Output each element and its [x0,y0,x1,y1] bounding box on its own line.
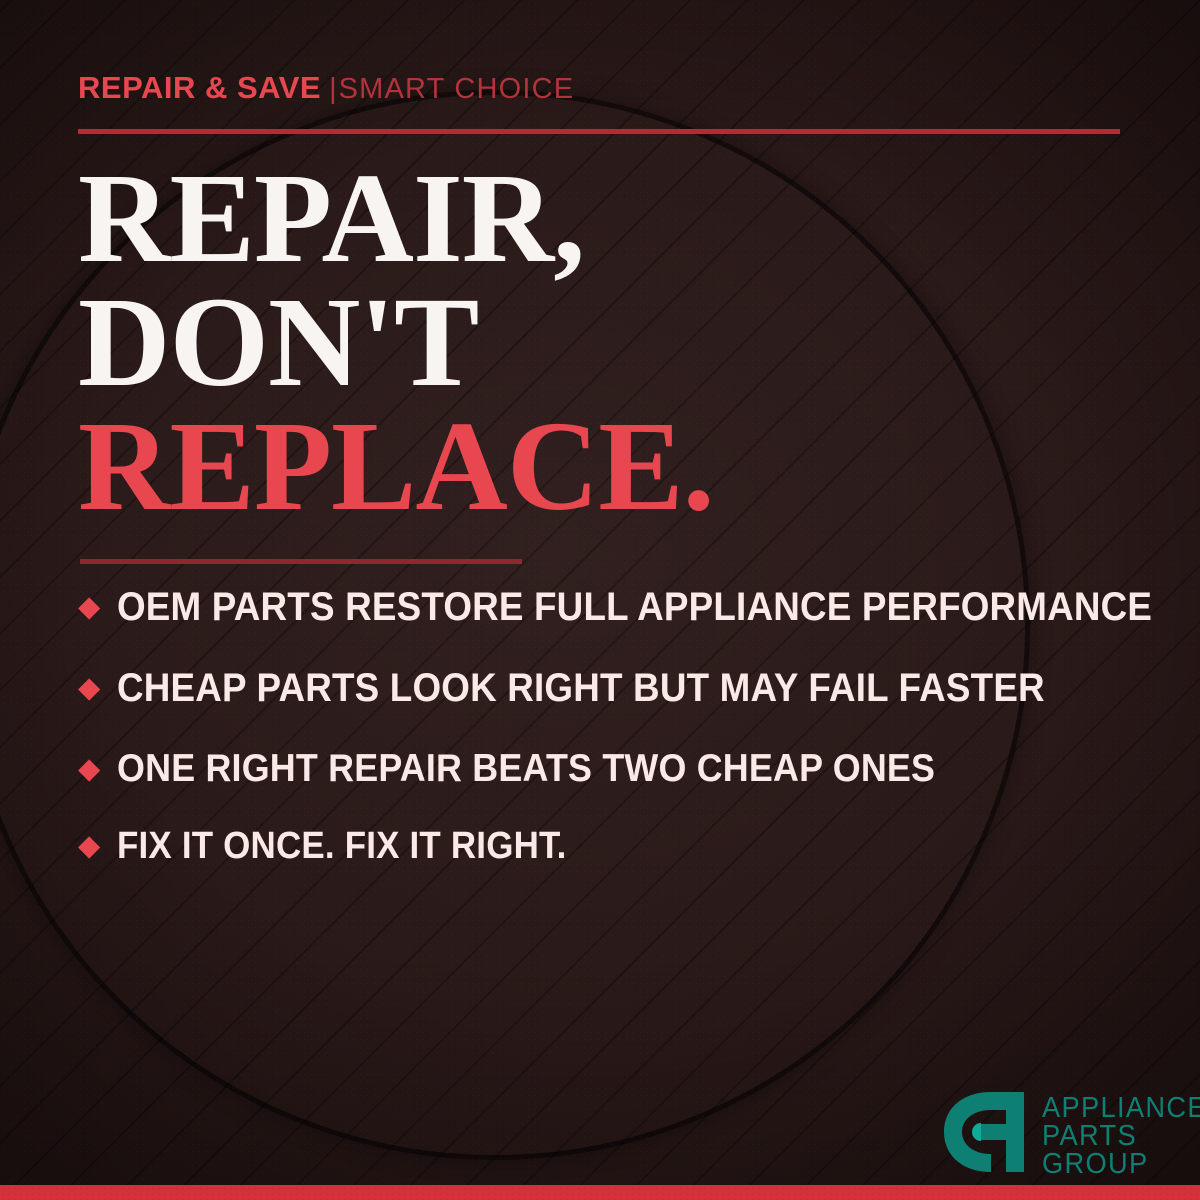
headline-line-2: DON'T [78,280,714,404]
logo-g-mark-icon [944,1092,1030,1172]
brand-logo: APPLIANCE PARTS GROUP [944,1092,1200,1178]
list-item: ◆ ONE RIGHT REPAIR BEATS TWO CHEAP ONES [78,747,1158,791]
logo-g-shape [944,1092,1024,1172]
bottom-bar-texture [0,1185,1200,1200]
list-item: ◆ OEM PARTS RESTORE FULL APPLIANCE PERFO… [78,585,1158,630]
diamond-bullet-icon: ◆ [78,755,100,784]
eyebrow-main-label: REPAIR & SAVE [78,70,321,105]
diamond-bullet-icon: ◆ [78,832,100,861]
logo-word-line-2: PARTS [1042,1122,1200,1150]
headline: REPAIR, DON'T REPLACE. [78,156,714,528]
eyebrow-sub-label: SMART CHOICE [339,73,575,105]
logo-wordmark: APPLIANCE PARTS GROUP [1042,1092,1200,1178]
diamond-bullet-icon: ◆ [78,674,100,703]
list-item-label: OEM PARTS RESTORE FULL APPLIANCE PERFORM… [117,585,1152,630]
list-item-label: ONE RIGHT REPAIR BEATS TWO CHEAP ONES [117,747,935,791]
benefit-list: ◆ OEM PARTS RESTORE FULL APPLIANCE PERFO… [78,585,1158,895]
list-item: ◆ FIX IT ONCE. FIX IT RIGHT. [78,825,1158,868]
poster-canvas: REPAIR & SAVE|SMART CHOICE REPAIR, DON'T… [0,0,1200,1200]
poster-content: REPAIR & SAVE|SMART CHOICE REPAIR, DON'T… [0,0,1200,1200]
diamond-bullet-icon: ◆ [78,593,100,622]
eyebrow-kicker: REPAIR & SAVE|SMART CHOICE [78,72,574,104]
headline-underline-rule [80,559,522,564]
list-item-label: FIX IT ONCE. FIX IT RIGHT. [117,825,567,868]
logo-word-line-3: GROUP [1042,1150,1200,1178]
eyebrow-separator: | [329,73,337,105]
headline-line-3-accent: REPLACE. [78,404,714,528]
headline-line-1: REPAIR, [78,156,714,280]
list-item: ◆ CHEAP PARTS LOOK RIGHT BUT MAY FAIL FA… [78,666,1158,711]
bottom-accent-bar [0,1185,1200,1200]
header-divider-rule [78,129,1120,134]
list-item-label: CHEAP PARTS LOOK RIGHT BUT MAY FAIL FAST… [117,666,1045,711]
logo-dot-accent [972,1123,981,1141]
logo-word-line-1: APPLIANCE [1042,1094,1200,1122]
